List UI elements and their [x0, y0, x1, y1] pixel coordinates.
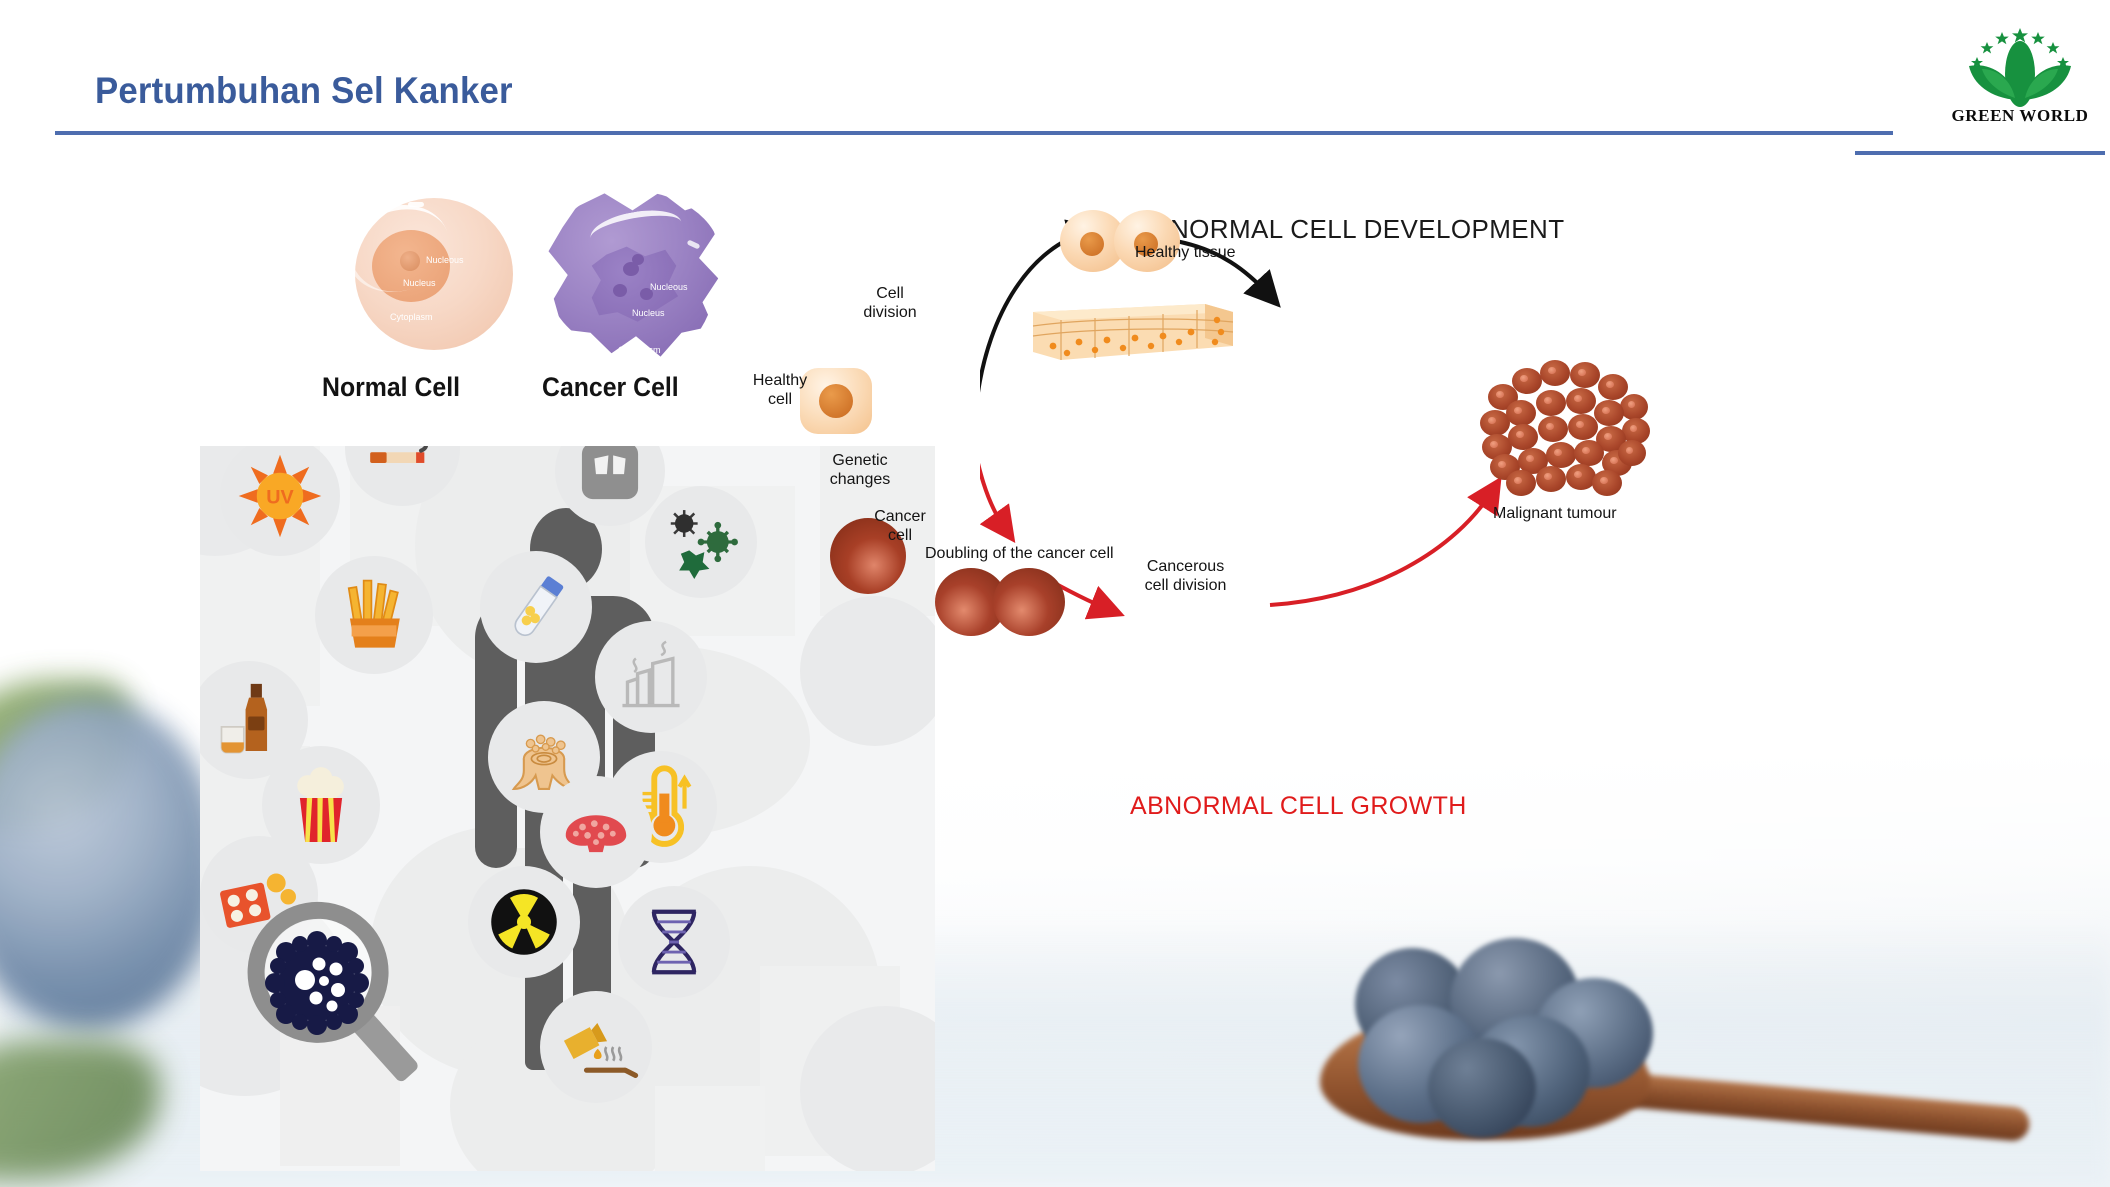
french-fries-icon: [315, 556, 433, 674]
label-cancer-cell: Cancer cell: [865, 508, 935, 546]
frying-oil-icon: [540, 991, 652, 1103]
normal-cell-nucleus-label: Nucleus: [403, 278, 436, 288]
green-world-logo: GREEN WORLD: [1945, 22, 2095, 132]
cancer-cell-caption: Cancer Cell: [542, 372, 679, 403]
slide-canvas: Pertumbuhan Sel Kanker GREEN WORLD: [0, 0, 2110, 1187]
header-divider-line: [55, 131, 1893, 135]
healthy-tissue-illustration: [1025, 290, 1240, 370]
logo-leaf-icon: [1945, 22, 2095, 112]
doubling-cancer-cells: [935, 568, 1065, 636]
cell-growth-cycle-diagram: NORMAL CELL DEVELOPMENT ABNORMAL CELL GR…: [980, 200, 1990, 930]
label-genetic-changes: Genetic changes: [815, 452, 905, 490]
cancer-cell-nucleolus-label: Nucleous: [650, 282, 688, 292]
normal-cell-highlight-dash: [408, 202, 424, 207]
dna-helix-icon: [618, 886, 730, 998]
normal-vs-cancer-cell-figure: Nucleous Nucleus Cytoplasm Nucleous Nucl…: [330, 190, 750, 440]
cancer-cell-nucleolus: [632, 254, 644, 265]
virus-germs-icon: [645, 486, 757, 598]
magnifier-cancer-cell-icon: [220, 876, 420, 1116]
normal-cell-caption: Normal Cell: [322, 372, 460, 403]
cancer-cell-nucleolus: [613, 284, 627, 297]
blueberry: [1428, 1038, 1536, 1138]
wooden-spoon-with-blueberries: [1310, 920, 2010, 1187]
svg-text:UV: UV: [266, 487, 294, 509]
label-cell-division: Cell division: [850, 285, 930, 323]
label-healthy-tissue: Healthy tissue: [1135, 244, 1265, 263]
cancer-cell-cytoplasm-label: Cytoplasm: [618, 345, 661, 355]
normal-cell-nucleolus-label: Nucleous: [426, 255, 464, 265]
factory-pollution-icon: [595, 621, 707, 733]
normal-cell-cytoplasm-label: Cytoplasm: [390, 312, 433, 322]
spoon-handle: [1609, 1072, 2030, 1142]
label-malignant-tumour: Malignant tumour: [1493, 505, 1663, 524]
uv-sun-icon: UV: [220, 446, 340, 556]
label-cancerous-cell-division: Cancerous cell division: [1128, 558, 1243, 596]
cancer-cell-nucleus-label: Nucleus: [632, 308, 665, 318]
malignant-tumour-illustration: [1480, 358, 1652, 500]
header-divider-line-secondary: [1855, 151, 2105, 155]
radiation-icon: [468, 866, 580, 978]
processed-meat-icon: [540, 776, 652, 888]
cancer-risk-factors-infographic: UV: [200, 446, 935, 1171]
test-tube-icon: [480, 551, 592, 663]
label-healthy-cell: Healthy cell: [745, 372, 815, 410]
logo-wordmark: GREEN WORLD: [1945, 106, 2095, 126]
page-title: Pertumbuhan Sel Kanker: [95, 70, 513, 112]
